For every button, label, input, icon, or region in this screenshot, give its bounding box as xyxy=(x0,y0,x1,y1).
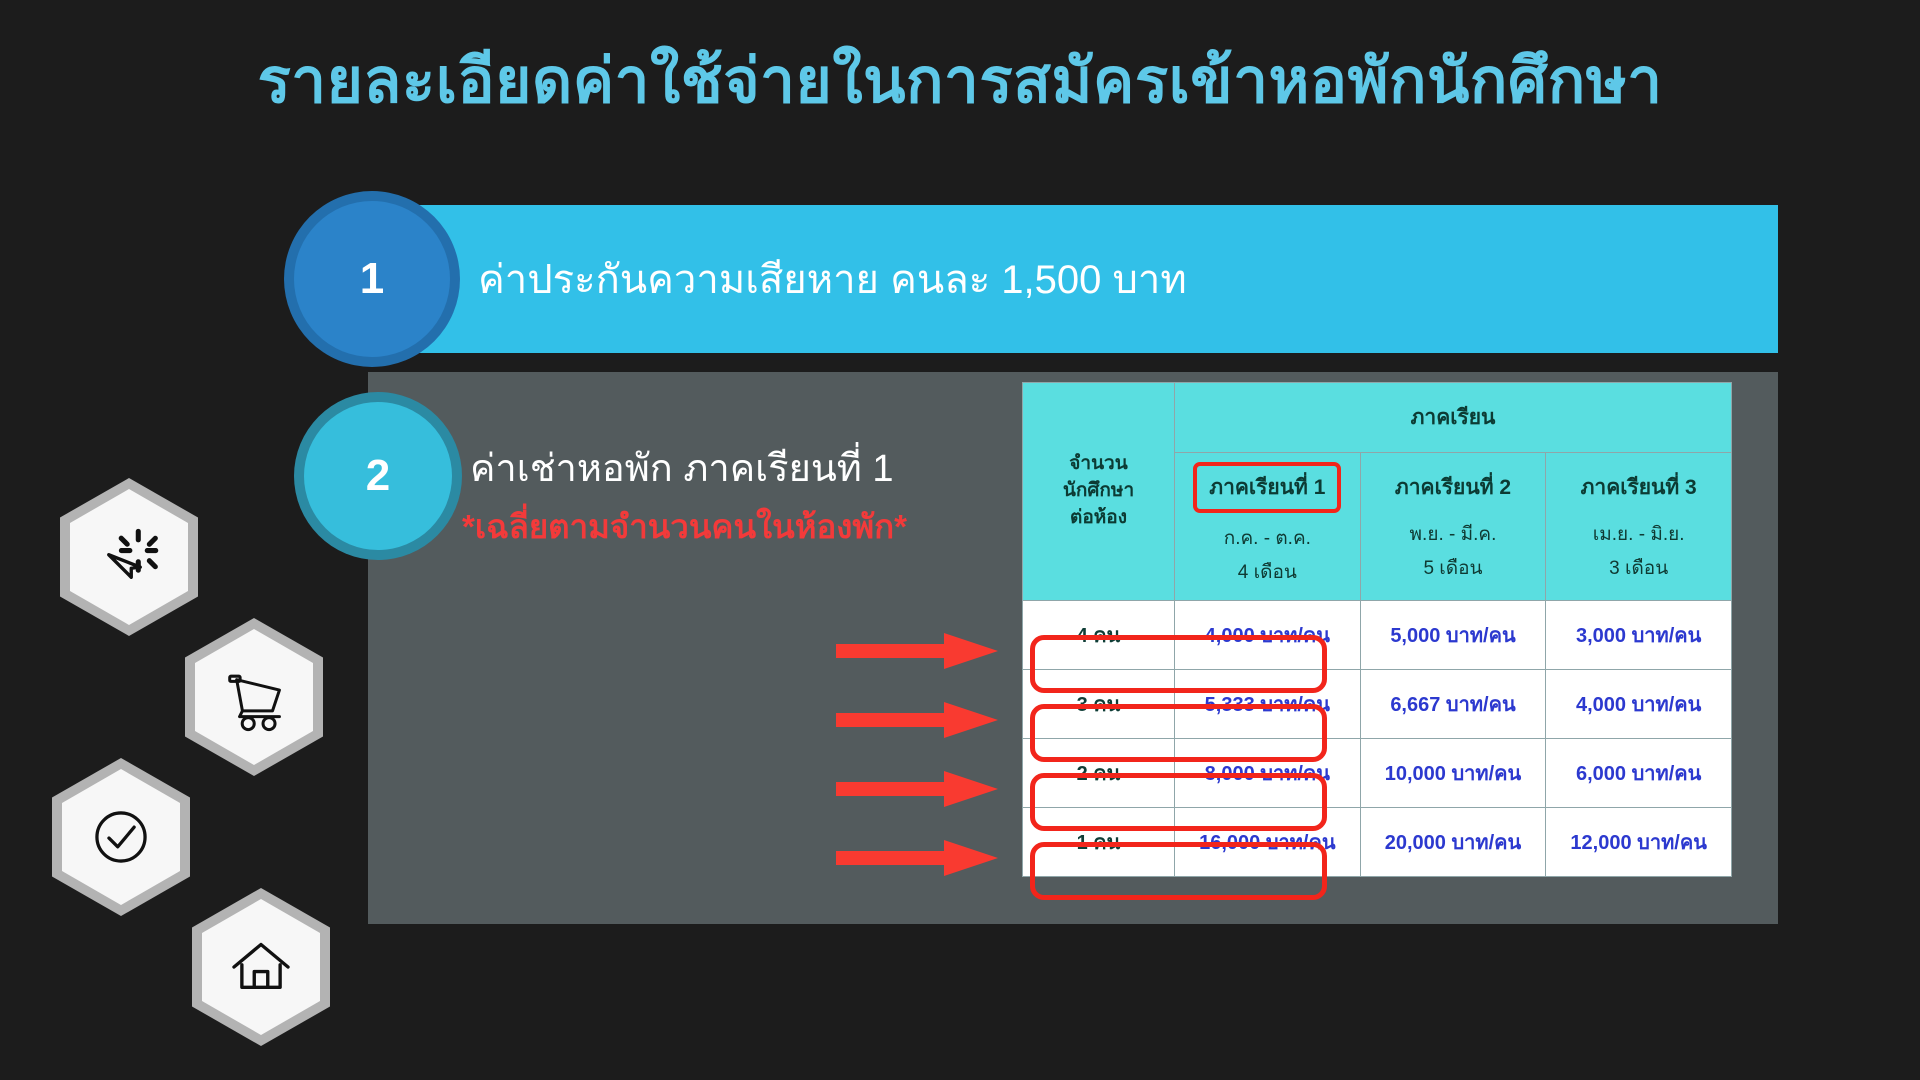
cell-semester-2: 10,000 บาท/คน xyxy=(1360,739,1546,808)
slide-root: รายละเอียดค่าใช้จ่ายในการสมัครเข้าหอพักน… xyxy=(0,0,1920,1080)
red-arrow-row-1 xyxy=(832,629,1002,673)
cell-semester-3: 6,000 บาท/คน xyxy=(1546,739,1732,808)
header-line-1: จำนวน xyxy=(1023,451,1174,478)
cell-semester-2: 6,667 บาท/คน xyxy=(1360,670,1546,739)
table-row: 1 คน 16,000 บาท/คน 20,000 บาท/คน 12,000 … xyxy=(1023,808,1732,877)
fee-table-head: จำนวน นักศึกษา ต่อห้อง ภาคเรียน ภาคเรียน… xyxy=(1023,383,1732,601)
item-1-text: ค่าประกันความเสียหาย คนละ 1,500 บาท xyxy=(478,247,1187,311)
header-semester-2-months: พ.ย. - มี.ค. xyxy=(1365,518,1542,551)
shopping-cart-glyph xyxy=(217,660,291,734)
item-2-note: *เฉลี่ยตามจำนวนคนในห้องพัก* xyxy=(462,500,907,553)
cell-semester-3: 4,000 บาท/คน xyxy=(1546,670,1732,739)
click-cursor-glyph xyxy=(93,521,165,593)
table-row: 4 คน 4,000 บาท/คน 5,000 บาท/คน 3,000 บาท… xyxy=(1023,601,1732,670)
header-semester-1: ภาคเรียนที่ 1 ก.ค. - ต.ค. 4 เดือน xyxy=(1175,453,1361,601)
header-line-2: นักศึกษา xyxy=(1023,478,1174,505)
red-arrow-row-3 xyxy=(832,767,1002,811)
header-semester-3-duration: 3 เดือน xyxy=(1550,552,1727,585)
red-arrow-row-2 xyxy=(832,698,1002,742)
header-semester-1-months: ก.ค. - ต.ค. xyxy=(1179,522,1356,555)
cell-semester-3: 12,000 บาท/คน xyxy=(1546,808,1732,877)
item-2-badge: 2 xyxy=(304,402,452,550)
cell-semester-1: 16,000 บาท/คน xyxy=(1175,808,1361,877)
cell-count: 3 คน xyxy=(1023,670,1175,739)
table-header-row-group: จำนวน นักศึกษา ต่อห้อง ภาคเรียน xyxy=(1023,383,1732,453)
header-line-3: ต่อห้อง xyxy=(1023,505,1174,532)
red-arrow-row-4 xyxy=(832,836,1002,880)
cell-semester-2: 5,000 บาท/คน xyxy=(1360,601,1546,670)
hexagon-inner xyxy=(202,899,320,1035)
header-semester-2: ภาคเรียนที่ 2 พ.ย. - มี.ค. 5 เดือน xyxy=(1360,453,1546,601)
hexagon-inner xyxy=(62,769,180,905)
home-glyph xyxy=(225,931,297,1003)
cell-count: 1 คน xyxy=(1023,808,1175,877)
table-row: 2 คน 8,000 บาท/คน 10,000 บาท/คน 6,000 บา… xyxy=(1023,739,1732,808)
header-semester-3-months: เม.ย. - มิ.ย. xyxy=(1550,518,1727,551)
cell-semester-2: 20,000 บาท/คน xyxy=(1360,808,1546,877)
cell-semester-1: 4,000 บาท/คน xyxy=(1175,601,1361,670)
cell-count: 4 คน xyxy=(1023,601,1175,670)
cell-semester-3: 3,000 บาท/คน xyxy=(1546,601,1732,670)
header-semester-3: ภาคเรียนที่ 3 เม.ย. - มิ.ย. 3 เดือน xyxy=(1546,453,1732,601)
cell-semester-1: 5,333 บาท/คน xyxy=(1175,670,1361,739)
cell-count: 2 คน xyxy=(1023,739,1175,808)
header-semester-2-title: ภาคเรียนที่ 2 xyxy=(1383,466,1523,509)
check-circle-glyph xyxy=(86,802,156,872)
header-semester-3-title: ภาคเรียนที่ 3 xyxy=(1569,466,1709,509)
header-students-per-room: จำนวน นักศึกษา ต่อห้อง xyxy=(1023,383,1175,601)
header-semester-1-duration: 4 เดือน xyxy=(1179,556,1356,589)
fee-table-body: 4 คน 4,000 บาท/คน 5,000 บาท/คน 3,000 บาท… xyxy=(1023,601,1732,877)
page-title: รายละเอียดค่าใช้จ่ายในการสมัครเข้าหอพักน… xyxy=(0,48,1920,116)
item-1-banner: ค่าประกันความเสียหาย คนละ 1,500 บาท xyxy=(368,205,1778,353)
check-circle-icon xyxy=(52,758,190,916)
header-semester-group: ภาคเรียน xyxy=(1175,383,1732,453)
item-2-heading: ค่าเช่าหอพัก ภาคเรียนที่ 1 xyxy=(470,437,894,498)
hexagon-inner xyxy=(195,629,313,765)
cell-semester-1: 8,000 บาท/คน xyxy=(1175,739,1361,808)
header-semester-2-duration: 5 เดือน xyxy=(1365,552,1542,585)
shopping-cart-icon xyxy=(185,618,323,776)
hexagon-inner xyxy=(70,489,188,625)
click-cursor-icon xyxy=(60,478,198,636)
fee-table: จำนวน นักศึกษา ต่อห้อง ภาคเรียน ภาคเรียน… xyxy=(1022,382,1732,877)
item-1-badge: 1 xyxy=(294,201,450,357)
header-semester-1-title: ภาคเรียนที่ 1 xyxy=(1193,462,1341,513)
home-icon xyxy=(192,888,330,1046)
table-row: 3 คน 5,333 บาท/คน 6,667 บาท/คน 4,000 บาท… xyxy=(1023,670,1732,739)
